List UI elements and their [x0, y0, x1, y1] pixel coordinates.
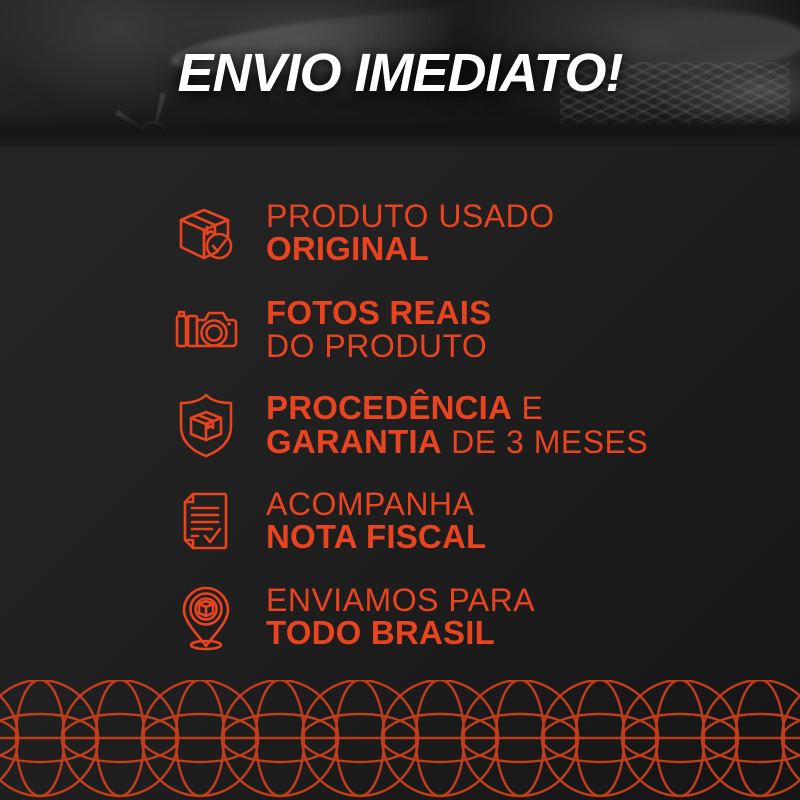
list-item-line-1: FOTOS REAIS — [266, 296, 491, 330]
promo-banner: ENVIO IMEDIATO! PRODUTO USADO — [0, 0, 800, 800]
line-1-bold: FOTOS REAIS — [266, 294, 491, 331]
list-item: PROCEDÊNCIA E GARANTIA DE 3 MESES — [0, 377, 800, 473]
shield-box-icon — [168, 387, 244, 463]
line-1-thin: E — [512, 390, 543, 426]
list-item-label: PRODUTO USADO ORIGINAL — [266, 200, 555, 266]
header-fade-bottom — [0, 113, 800, 147]
page-title: ENVIO IMEDIATO! — [0, 44, 800, 102]
line-2-bold: TODO BRASIL — [266, 614, 495, 651]
list-item-line-1: ACOMPANHA — [266, 488, 486, 521]
list-item-label: ACOMPANHA NOTA FISCAL — [266, 488, 486, 554]
camera-icon — [168, 291, 244, 367]
list-item: FOTOS REAIS DO PRODUTO — [0, 281, 800, 377]
footer-ornament-pattern — [0, 680, 800, 800]
feature-list: PRODUTO USADO ORIGINAL — [0, 147, 800, 700]
line-1-bold: PROCEDÊNCIA — [266, 389, 512, 426]
line-1-thin: ACOMPANHA — [266, 486, 474, 522]
line-2-thin: DE 3 MESES — [442, 424, 648, 460]
list-item-label: PROCEDÊNCIA E GARANTIA DE 3 MESES — [266, 391, 648, 458]
list-item-line-2: DO PRODUTO — [266, 330, 491, 363]
list-item-label: FOTOS REAIS DO PRODUTO — [266, 296, 491, 362]
list-item-line-2: NOTA FISCAL — [266, 520, 486, 554]
list-item-line-2: GARANTIA DE 3 MESES — [266, 425, 648, 459]
line-1-thin: ENVIAMOS PARA — [266, 582, 535, 618]
list-item-line-2: TODO BRASIL — [266, 616, 535, 650]
list-item: ENVIAMOS PARA TODO BRASIL — [0, 569, 800, 665]
line-2-thin: DO PRODUTO — [266, 328, 487, 364]
list-item-line-1: PRODUTO USADO — [266, 200, 555, 233]
line-1-thin: PRODUTO USADO — [266, 198, 555, 234]
list-item-label: ENVIAMOS PARA TODO BRASIL — [266, 584, 535, 650]
header-banner: ENVIO IMEDIATO! — [0, 0, 800, 147]
list-item: ACOMPANHA NOTA FISCAL — [0, 473, 800, 569]
location-pin-box-icon — [168, 579, 244, 655]
list-item-line-2: ORIGINAL — [266, 232, 555, 266]
invoice-document-check-icon — [168, 483, 244, 559]
package-check-icon — [168, 195, 244, 271]
list-item-line-1: PROCEDÊNCIA E — [266, 391, 648, 425]
line-2-bold: GARANTIA — [266, 423, 442, 460]
list-item: PRODUTO USADO ORIGINAL — [0, 185, 800, 281]
list-item-line-1: ENVIAMOS PARA — [266, 584, 535, 617]
line-2-bold: NOTA FISCAL — [266, 518, 486, 555]
line-2-bold: ORIGINAL — [266, 230, 429, 267]
